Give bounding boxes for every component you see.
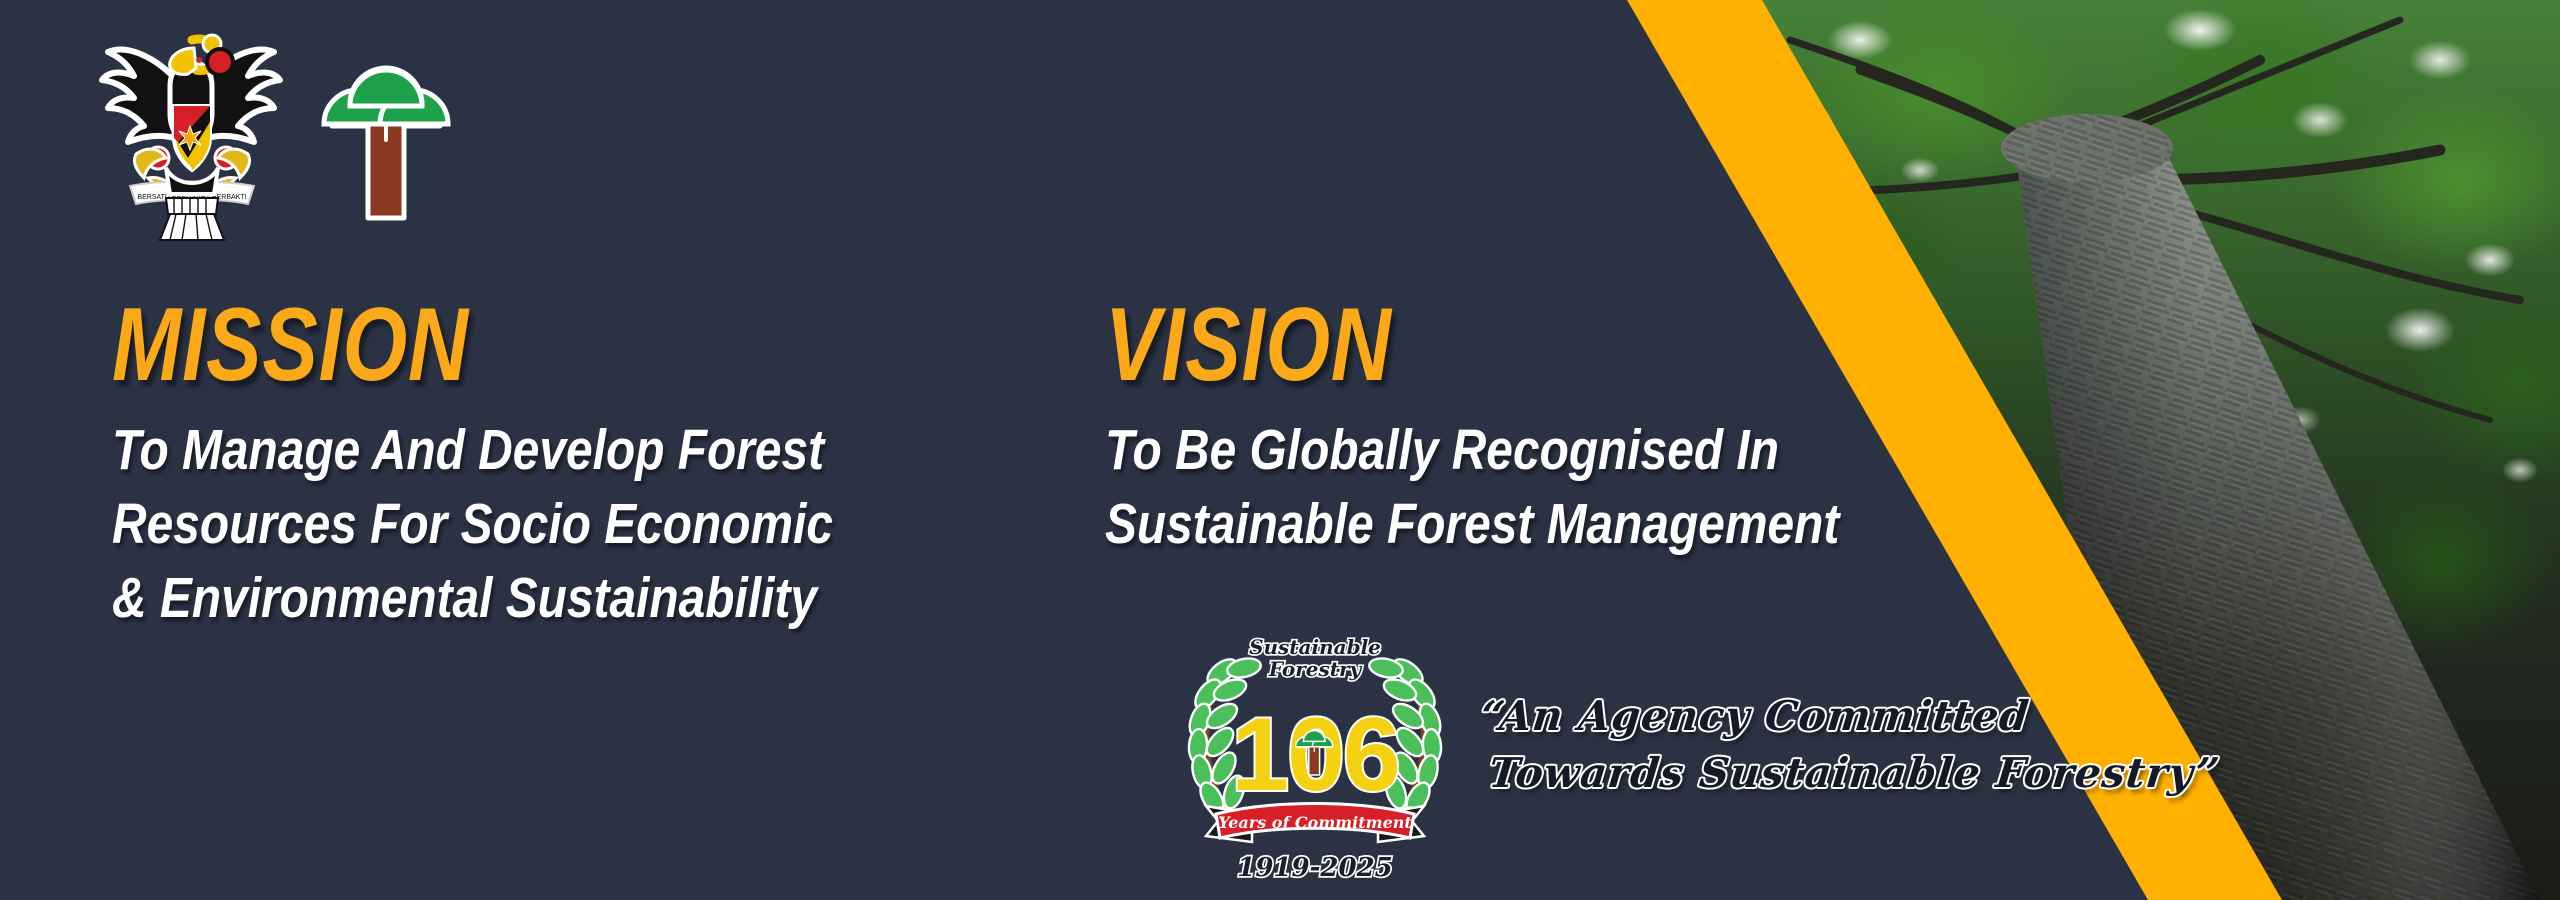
vision-line-2: Sustainable Forest Management: [1105, 487, 1903, 561]
tagline-line-2: Towards Sustainable Forestry”: [1486, 745, 2098, 802]
mission-column: MISSION To Manage And Develop Forest Res…: [112, 293, 1032, 635]
tagline-line-1: “An Agency Committed: [1478, 688, 2104, 745]
emblem-script-line-1: Sustainable: [1249, 635, 1381, 659]
mission-vision-banner: BERSATU BERUSAHA BERBAKTI: [0, 0, 2560, 900]
emblem-years: 1919-2025: [1237, 853, 1393, 883]
forest-department-tree-logo-icon: [312, 48, 460, 223]
mission-line-1: To Manage And Develop Forest: [112, 413, 885, 487]
mission-heading: MISSION: [112, 293, 848, 397]
emblem-banner-text: Years of Commitment: [1218, 813, 1412, 832]
anniversary-106-emblem: Sustainable Forestry 106 Years of Commit…: [1182, 628, 1448, 890]
emblem-script-line-2: Forestry: [1268, 657, 1363, 681]
mission-line-2: Resources For Socio Economic: [112, 487, 885, 561]
vision-line-1: To Be Globally Recognised In: [1105, 413, 1903, 487]
mission-line-3: & Environmental Sustainability: [112, 561, 885, 635]
logo-row: BERSATU BERUSAHA BERBAKTI: [96, 18, 460, 243]
vision-column: VISION To Be Globally Recognised In Sust…: [1105, 293, 2055, 561]
vision-heading: VISION: [1105, 293, 1865, 397]
tagline: “An Agency Committed Towards Sustainable…: [1472, 688, 2104, 801]
sarawak-coat-of-arms-icon: BERSATU BERUSAHA BERBAKTI: [96, 18, 286, 243]
emblem-banner: Years of Commitment: [1216, 804, 1414, 839]
